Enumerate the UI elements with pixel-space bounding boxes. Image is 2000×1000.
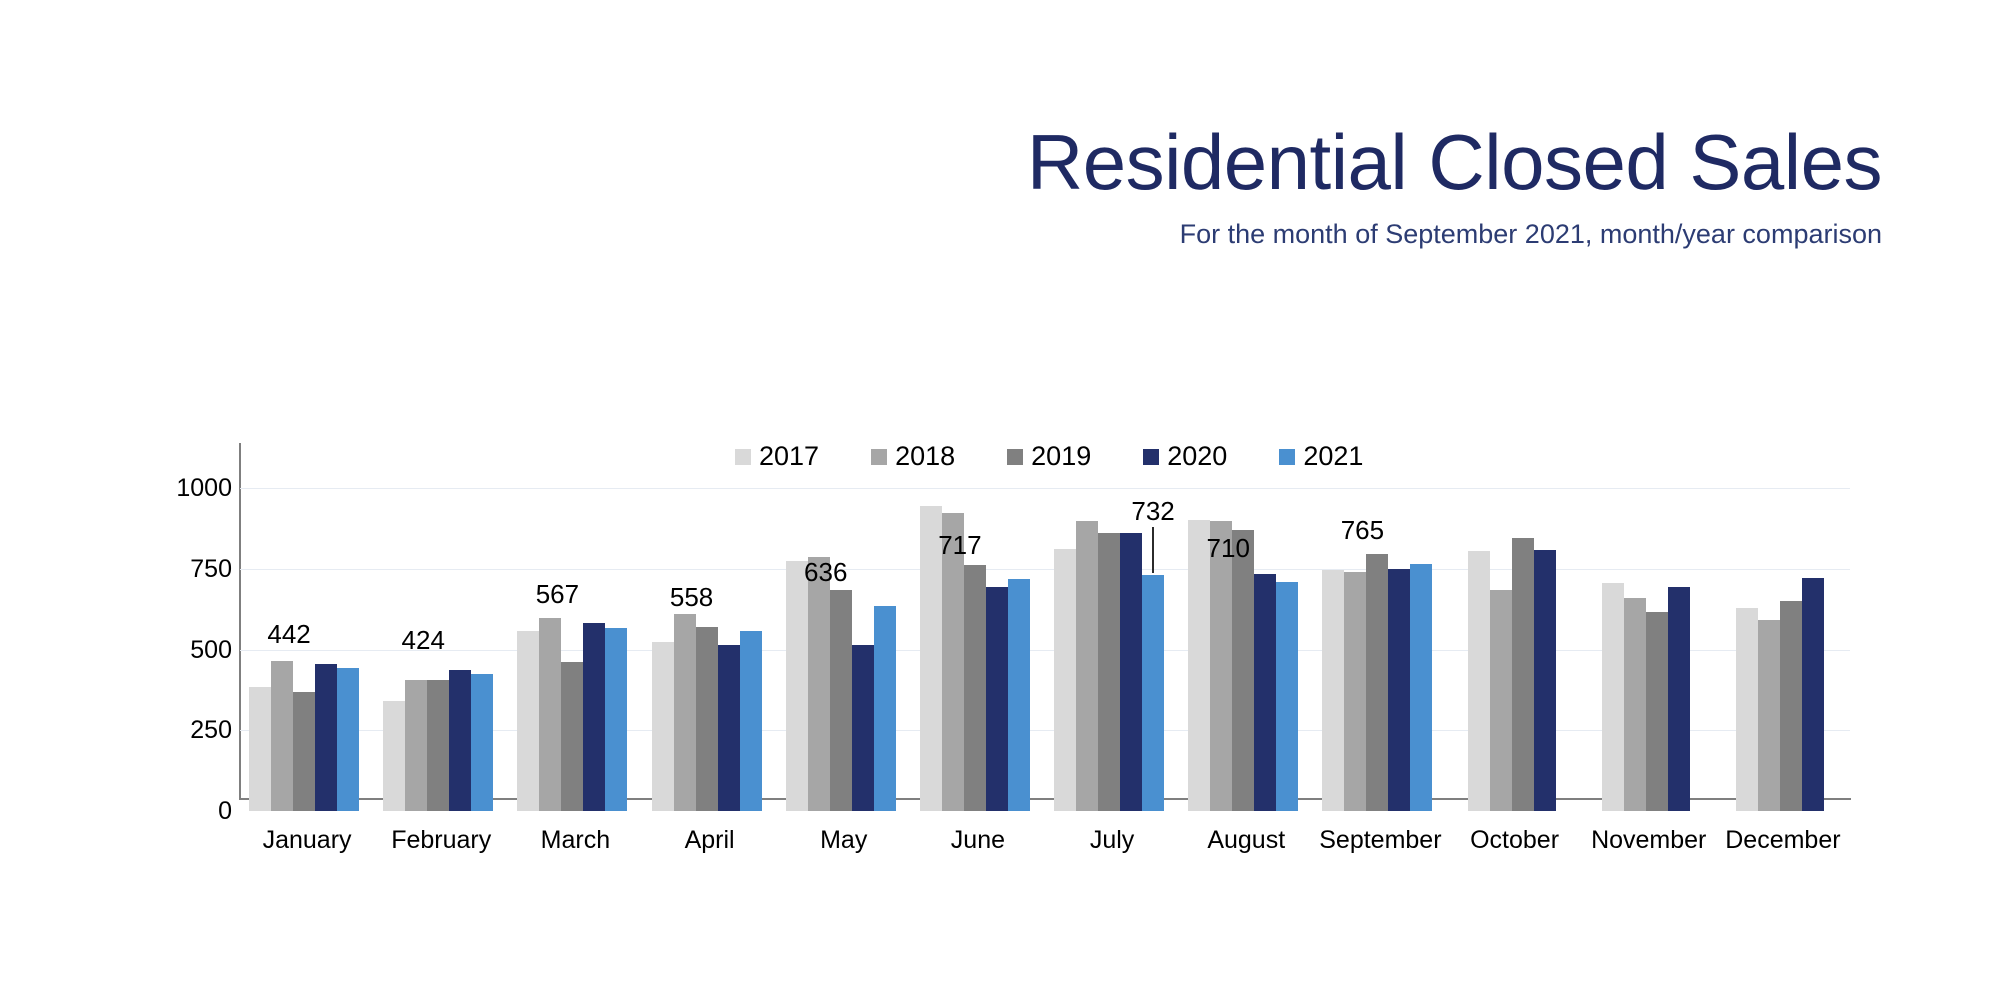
bar-february-2018[interactable] — [405, 680, 427, 811]
bar-october-2018[interactable] — [1490, 590, 1512, 811]
bar-october-2020[interactable] — [1534, 550, 1556, 811]
x-axis-tick-label: May — [777, 825, 911, 855]
bar-november-2019[interactable] — [1646, 612, 1668, 811]
bar-group-october — [1448, 443, 1582, 811]
y-axis-tick-label: 750 — [154, 557, 232, 582]
bar-june-2020[interactable] — [986, 587, 1008, 811]
bar-march-2021[interactable] — [605, 628, 627, 811]
bar-august-2020[interactable] — [1254, 574, 1276, 811]
x-axis-tick-label: December — [1716, 825, 1850, 855]
y-axis-tick-label: 1000 — [154, 476, 232, 501]
bar-march-2020[interactable] — [583, 623, 605, 811]
bar-may-2018[interactable] — [808, 557, 830, 811]
data-label-july: 732 — [1113, 497, 1193, 525]
bar-july-2019[interactable] — [1098, 533, 1120, 811]
chart-header: Residential Closed Sales For the month o… — [0, 118, 1882, 250]
bar-group-december — [1716, 443, 1850, 811]
y-axis-tick-label: 250 — [154, 718, 232, 743]
bar-december-2018[interactable] — [1758, 620, 1780, 811]
data-label-may: 636 — [786, 558, 866, 586]
bar-january-2021[interactable] — [337, 668, 359, 811]
bar-december-2017[interactable] — [1736, 608, 1758, 811]
bar-march-2018[interactable] — [539, 618, 561, 811]
bar-september-2019[interactable] — [1366, 554, 1388, 811]
x-axis-tick-label: February — [374, 825, 508, 855]
bar-august-2021[interactable] — [1276, 582, 1298, 811]
bar-may-2021[interactable] — [874, 606, 896, 811]
bar-july-2017[interactable] — [1054, 549, 1076, 811]
bar-may-2020[interactable] — [852, 645, 874, 811]
bar-september-2018[interactable] — [1344, 572, 1366, 811]
bar-group-august — [1179, 443, 1313, 811]
bar-group-june — [911, 443, 1045, 811]
bar-september-2020[interactable] — [1388, 569, 1410, 811]
bar-march-2017[interactable] — [517, 631, 539, 811]
bars-container — [920, 443, 1030, 811]
bars-container — [1602, 443, 1690, 811]
bar-april-2020[interactable] — [718, 645, 740, 811]
x-axis-tick-label: August — [1179, 825, 1313, 855]
bars-container — [1188, 443, 1298, 811]
leader-line — [1152, 527, 1154, 573]
bar-april-2017[interactable] — [652, 642, 674, 811]
x-axis-tick-label: November — [1582, 825, 1716, 855]
bars-container — [517, 443, 627, 811]
bar-november-2020[interactable] — [1668, 587, 1690, 811]
bar-october-2017[interactable] — [1468, 551, 1490, 811]
bar-december-2020[interactable] — [1802, 578, 1824, 811]
bar-december-2019[interactable] — [1780, 601, 1802, 811]
bar-april-2018[interactable] — [674, 614, 696, 811]
y-axis-tick-label: 0 — [154, 799, 232, 824]
bar-august-2017[interactable] — [1188, 520, 1210, 811]
bars-container — [1736, 443, 1824, 811]
bar-july-2020[interactable] — [1120, 533, 1142, 811]
x-axis-tick-label: April — [643, 825, 777, 855]
bar-august-2019[interactable] — [1232, 530, 1254, 811]
y-axis: 02505007501000 — [150, 430, 232, 810]
bar-may-2019[interactable] — [830, 590, 852, 811]
bar-november-2017[interactable] — [1602, 583, 1624, 811]
bar-january-2020[interactable] — [315, 664, 337, 811]
bar-june-2021[interactable] — [1008, 579, 1030, 811]
x-axis-tick-label: June — [911, 825, 1045, 855]
bar-july-2018[interactable] — [1076, 521, 1098, 811]
x-axis-tick-label: January — [240, 825, 374, 855]
bars-container — [1468, 443, 1556, 811]
bar-group-november — [1582, 443, 1716, 811]
bar-november-2018[interactable] — [1624, 598, 1646, 811]
data-label-august: 710 — [1188, 534, 1268, 562]
bars-container — [786, 443, 896, 811]
data-label-june: 717 — [920, 531, 1000, 559]
bar-april-2021[interactable] — [740, 631, 762, 811]
bar-chart: 02505007501000 JanuaryFebruaryMarchApril… — [150, 430, 1860, 870]
data-label-march: 567 — [517, 580, 597, 608]
x-axis-tick-label: September — [1313, 825, 1447, 855]
y-axis-tick-label: 500 — [154, 638, 232, 663]
data-label-february: 424 — [383, 626, 463, 654]
x-axis-tick-label: July — [1045, 825, 1179, 855]
bars-container — [1322, 443, 1432, 811]
bar-october-2019[interactable] — [1512, 538, 1534, 811]
bar-september-2021[interactable] — [1410, 564, 1432, 811]
page-subtitle: For the month of September 2021, month/y… — [0, 218, 1882, 250]
bar-february-2017[interactable] — [383, 701, 405, 811]
bar-june-2019[interactable] — [964, 565, 986, 811]
data-label-april: 558 — [652, 583, 732, 611]
bar-january-2019[interactable] — [293, 692, 315, 811]
bar-group-april — [643, 443, 777, 811]
bar-april-2019[interactable] — [696, 627, 718, 811]
x-axis-tick-label: October — [1448, 825, 1582, 855]
bar-august-2018[interactable] — [1210, 521, 1232, 811]
x-axis-tick-label: March — [508, 825, 642, 855]
bar-january-2018[interactable] — [271, 661, 293, 811]
bar-group-september — [1313, 443, 1447, 811]
bars-container — [652, 443, 762, 811]
data-label-september: 765 — [1322, 516, 1402, 544]
bar-february-2020[interactable] — [449, 670, 471, 811]
plot-area: JanuaryFebruaryMarchAprilMayJuneJulyAugu… — [240, 443, 1850, 811]
bar-september-2017[interactable] — [1322, 570, 1344, 811]
bar-july-2021[interactable] — [1142, 575, 1164, 811]
slide-canvas: Residential Closed Sales For the month o… — [0, 0, 2000, 1000]
page-title: Residential Closed Sales — [0, 118, 1882, 206]
bar-group-march — [508, 443, 642, 811]
data-label-january: 442 — [249, 620, 329, 648]
bar-february-2021[interactable] — [471, 674, 493, 811]
bar-march-2019[interactable] — [561, 662, 583, 811]
bar-may-2017[interactable] — [786, 561, 808, 811]
bar-february-2019[interactable] — [427, 680, 449, 811]
bar-group-may — [777, 443, 911, 811]
bar-january-2017[interactable] — [249, 687, 271, 811]
